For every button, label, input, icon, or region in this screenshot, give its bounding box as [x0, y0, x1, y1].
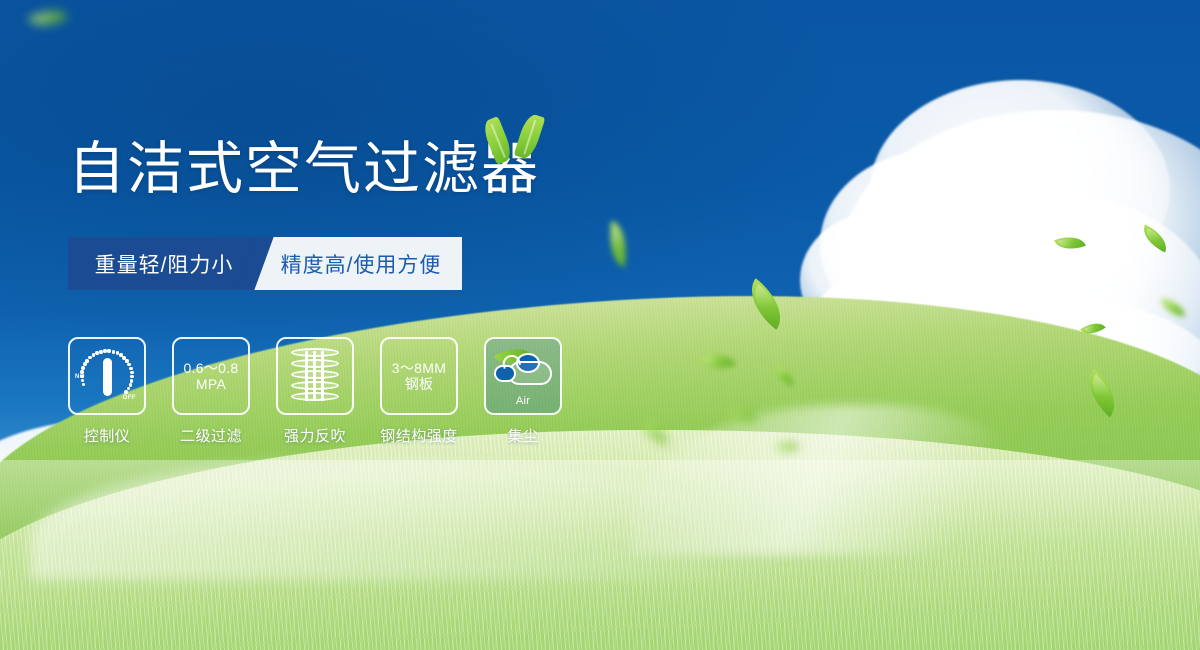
feature-label-blowback: 强力反吹 [276, 425, 354, 446]
coil-bar [313, 351, 316, 401]
gauge-dot [81, 366, 85, 370]
gauge-label-off: OFF [123, 395, 136, 401]
feature-label-steel: 钢结构强度 [380, 425, 458, 446]
subtitle-right-text: 精度高/使用方便 [281, 249, 442, 279]
sprout-leaf-left [480, 116, 514, 165]
feature-box-blowback [276, 337, 354, 415]
feature-box-pressure: 0.6〜0.8 MPA [172, 337, 250, 415]
air-label: Air [492, 395, 554, 407]
feature-label-controller: 控制仪 [68, 425, 146, 446]
feature-item-controller: NO OFF 控制仪 [68, 337, 146, 446]
leaf-vein [490, 123, 505, 157]
gauge-dot [103, 349, 107, 353]
feature-box-dust: Air [484, 337, 562, 415]
gauge-dot [82, 383, 86, 387]
sprout-leaves-icon [480, 110, 560, 166]
gauge-dot [80, 375, 84, 379]
gauge-dot [127, 363, 131, 367]
pressure-value: 0.6〜0.8 [183, 360, 238, 376]
product-banner: 自洁式空气过滤器 重量轻/阻力小 精度高/使用方便 NO OFF 控制仪 [0, 0, 1200, 650]
gauge-dot [107, 349, 111, 353]
gauge-dot [124, 390, 128, 394]
sprout-leaf-right [514, 112, 546, 161]
feature-item-pressure: 0.6〜0.8 MPA 二级过滤 [172, 337, 250, 446]
gauge-dot [130, 375, 134, 379]
feature-box-controller: NO OFF [68, 337, 146, 415]
title-block: 自洁式空气过滤器 [68, 140, 540, 200]
gauge-dot [81, 379, 85, 383]
steel-plate-icon: 3〜8MM 钢板 [392, 360, 446, 392]
subtitle-bar: 重量轻/阻力小 精度高/使用方便 [68, 237, 462, 290]
subtitle-left-text: 重量轻/阻力小 [95, 249, 234, 279]
pressure-icon: 0.6〜0.8 MPA [183, 360, 238, 392]
ground-glow [0, 460, 1200, 650]
subtitle-left-panel: 重量轻/阻力小 [68, 237, 260, 290]
gauge-dot [129, 367, 133, 371]
feature-label-dust: 集尘 [484, 425, 562, 446]
gauge-dot [112, 350, 116, 354]
feature-label-pressure: 二级过滤 [172, 425, 250, 446]
gauge-dot [88, 356, 92, 360]
steel-material: 钢板 [392, 376, 446, 392]
cloud-air-icon: Air [492, 349, 554, 403]
steel-thickness: 3〜8MM [392, 360, 446, 376]
gauge-dot [99, 350, 103, 354]
coil-bar [321, 351, 324, 401]
coil-bar [305, 351, 308, 401]
feature-item-steel: 3〜8MM 钢板 钢结构强度 [380, 337, 458, 446]
feature-list: NO OFF 控制仪 0.6〜0.8 MPA 二级过滤 [68, 337, 562, 446]
gauge-dot [85, 359, 89, 363]
feature-box-steel: 3〜8MM 钢板 [380, 337, 458, 415]
coil-filter-icon [291, 348, 339, 404]
feature-item-blowback: 强力反吹 [276, 337, 354, 446]
gauge-needle [103, 358, 112, 396]
page-title: 自洁式空气过滤器 [68, 140, 540, 200]
gauge-dot [130, 371, 134, 375]
leaf-vein [524, 119, 537, 154]
gauge-dot [83, 362, 87, 366]
pressure-unit: MPA [183, 376, 238, 392]
feature-item-dust: Air 集尘 [484, 337, 562, 446]
gauge-icon: NO OFF [76, 347, 138, 405]
